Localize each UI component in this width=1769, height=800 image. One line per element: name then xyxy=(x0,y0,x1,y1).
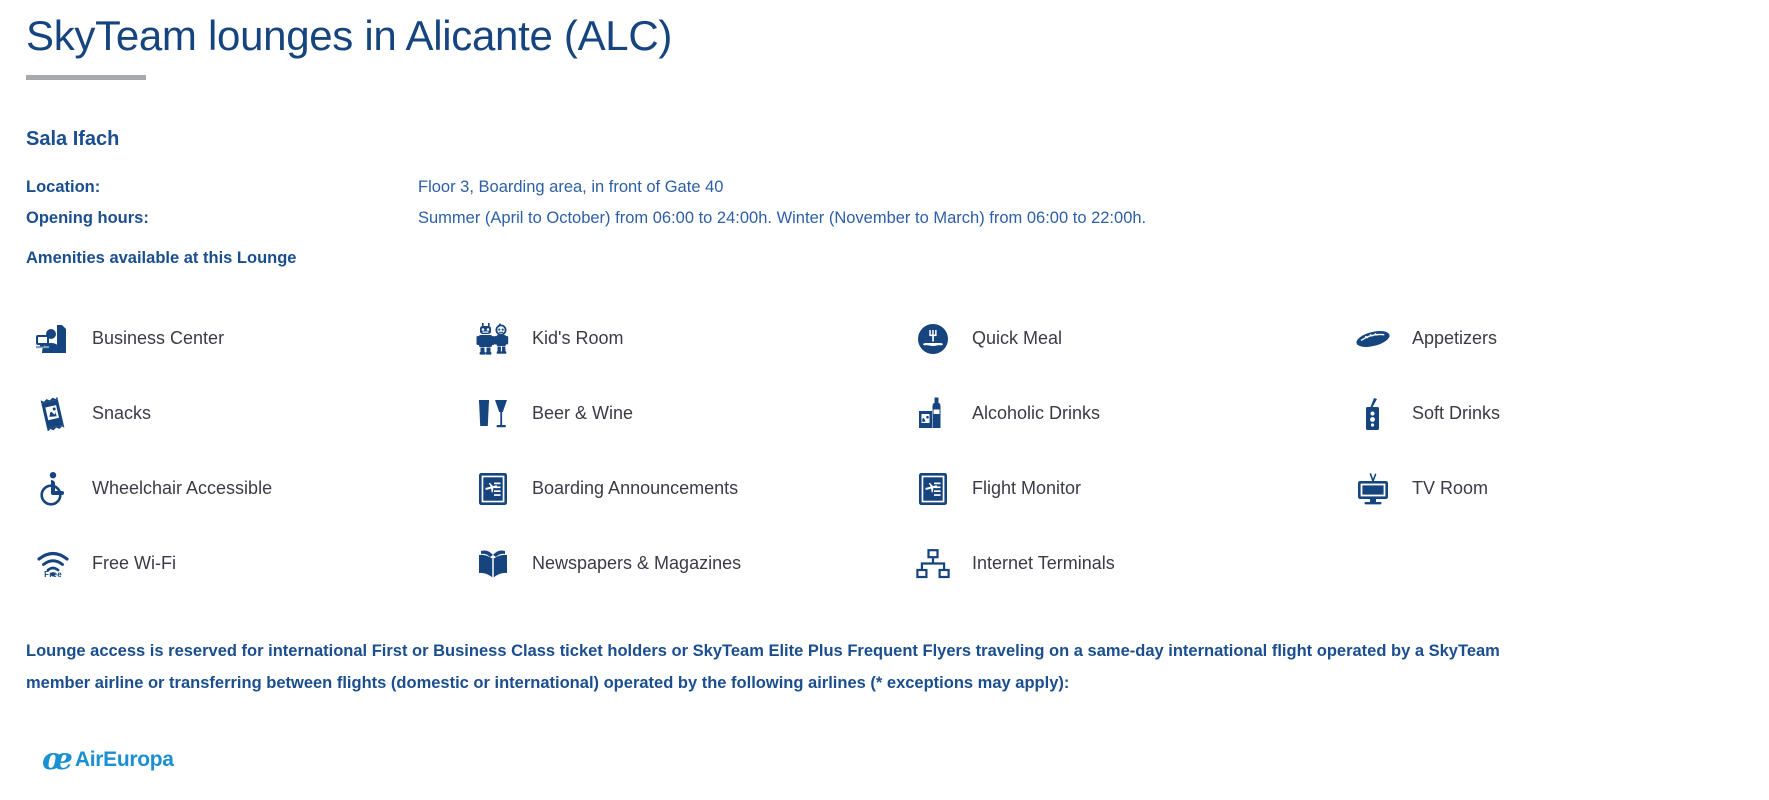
lounge-page: SkyTeam lounges in Alicante (ALC) Sala I… xyxy=(0,0,1769,800)
location-value: Floor 3, Boarding area, in front of Gate… xyxy=(418,177,723,198)
location-label: Location: xyxy=(26,177,418,198)
air-europa-logo[interactable]: œ AirEuropa xyxy=(42,745,174,775)
wheelchair-icon xyxy=(26,472,80,506)
amenity-alcoholic-drinks: Alcoholic Drinks xyxy=(906,377,1346,452)
lounge-access-note: Lounge access is reserved for internatio… xyxy=(0,618,1560,699)
amenity-soft-drinks: Soft Drinks xyxy=(1346,377,1769,452)
tv-room-icon xyxy=(1346,473,1400,505)
amenity-quick-meal: Quick Meal xyxy=(906,302,1346,377)
newspapers-icon xyxy=(466,548,520,580)
amenity-label: TV Room xyxy=(1400,478,1488,500)
amenity-internet-terminals: Internet Terminals xyxy=(906,527,1346,602)
appetizers-icon xyxy=(1346,328,1400,350)
air-europa-name: AirEuropa xyxy=(75,748,174,772)
wifi-icon: Free xyxy=(26,550,80,578)
internet-terminals-icon xyxy=(906,549,960,579)
air-europa-mark: œ xyxy=(42,745,70,775)
snacks-icon xyxy=(26,397,80,431)
amenity-newspapers-magazines: Newspapers & Magazines xyxy=(466,527,906,602)
amenity-label: Wheelchair Accessible xyxy=(80,478,272,500)
amenity-label: Internet Terminals xyxy=(960,553,1115,575)
amenity-label: Free Wi-Fi xyxy=(80,553,176,575)
opening-hours-row: Opening hours: Summer (April to October)… xyxy=(26,208,1769,229)
amenity-label: Boarding Announcements xyxy=(520,478,738,500)
amenity-label: Business Center xyxy=(80,328,224,350)
lounge-name: Sala Ifach xyxy=(0,80,1769,151)
lounge-info-block: Location: Floor 3, Boarding area, in fro… xyxy=(0,177,1769,229)
alcoholic-drinks-icon xyxy=(906,397,960,431)
amenity-flight-monitor: Flight Monitor xyxy=(906,452,1346,527)
location-row: Location: Floor 3, Boarding area, in fro… xyxy=(26,177,1769,198)
amenity-boarding-announcements: Boarding Announcements xyxy=(466,452,906,527)
amenity-appetizers: Appetizers xyxy=(1346,302,1769,377)
amenity-label: Kid's Room xyxy=(520,328,623,350)
amenities-grid: Business Center xyxy=(0,302,1769,602)
business-center-icon xyxy=(26,324,80,354)
quick-meal-icon xyxy=(906,323,960,355)
amenity-business-center: Business Center xyxy=(26,302,466,377)
amenity-label: Flight Monitor xyxy=(960,478,1081,500)
boarding-announcements-icon xyxy=(466,473,520,505)
amenity-label: Snacks xyxy=(80,403,151,425)
amenity-kids-room: Kid's Room xyxy=(466,302,906,377)
amenity-tv-room: TV Room xyxy=(1346,452,1769,527)
amenity-label: Alcoholic Drinks xyxy=(960,403,1100,425)
amenity-label: Soft Drinks xyxy=(1400,403,1500,425)
wifi-free-badge: Free xyxy=(44,570,62,579)
opening-hours-label: Opening hours: xyxy=(26,208,418,229)
opening-hours-value: Summer (April to October) from 06:00 to … xyxy=(418,208,1146,229)
amenities-heading: Amenities available at this Lounge xyxy=(0,249,1769,268)
soft-drinks-icon xyxy=(1346,397,1400,431)
amenity-beer-wine: Beer & Wine xyxy=(466,377,906,452)
amenity-label: Beer & Wine xyxy=(520,403,633,425)
amenity-label: Quick Meal xyxy=(960,328,1062,350)
airline-logos: œ AirEuropa xyxy=(0,715,1769,775)
amenity-snacks: Snacks xyxy=(26,377,466,452)
amenity-label: Appetizers xyxy=(1400,328,1497,350)
page-title: SkyTeam lounges in Alicante (ALC) xyxy=(0,0,1769,63)
kids-room-icon xyxy=(466,323,520,355)
flight-monitor-icon xyxy=(906,473,960,505)
amenity-label: Newspapers & Magazines xyxy=(520,553,741,575)
beer-wine-icon xyxy=(466,398,520,430)
amenity-free-wifi: Free Free Wi-Fi xyxy=(26,527,466,602)
amenity-wheelchair-accessible: Wheelchair Accessible xyxy=(26,452,466,527)
